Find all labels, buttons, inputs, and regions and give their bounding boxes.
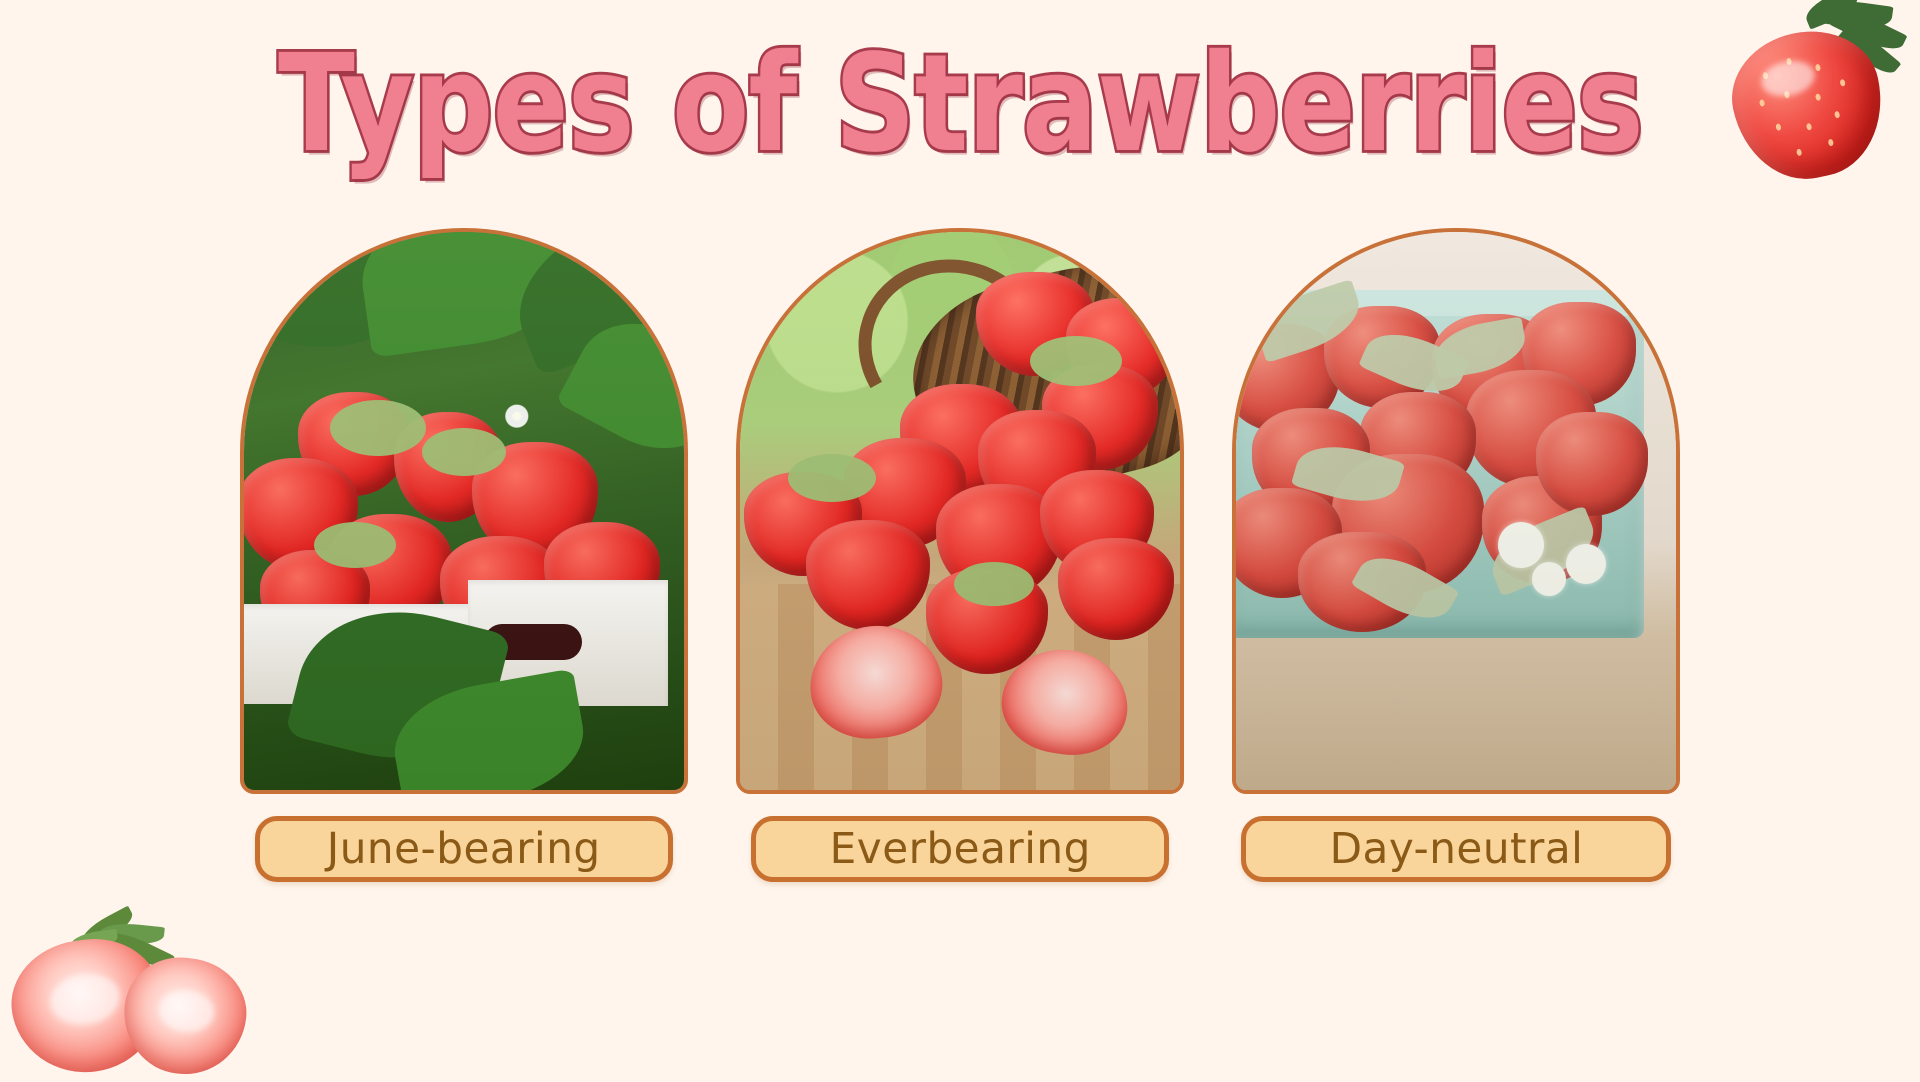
strawberry-type-card[interactable]: June-bearing bbox=[240, 228, 688, 882]
arch-frame-june-bearing bbox=[240, 228, 688, 794]
card-label-text: Day-neutral bbox=[1329, 824, 1583, 874]
card-label-day-neutral[interactable]: Day-neutral bbox=[1241, 816, 1671, 882]
page-title: Types of Strawberries bbox=[278, 34, 1643, 175]
arch-frame-day-neutral bbox=[1232, 228, 1680, 794]
card-row: June-bearing bbox=[0, 228, 1920, 868]
card-label-text: June-bearing bbox=[327, 824, 601, 874]
card-label-text: Everbearing bbox=[829, 824, 1090, 874]
strawberry-type-card[interactable]: Day-neutral bbox=[1232, 228, 1680, 882]
photo-june-bearing bbox=[244, 232, 684, 790]
strawberry-whole-top-right-icon bbox=[1726, 0, 1906, 188]
infographic-canvas: Types of Strawberries bbox=[0, 0, 1920, 1080]
card-label-june-bearing[interactable]: June-bearing bbox=[255, 816, 673, 882]
arch-frame-everbearing bbox=[736, 228, 1184, 794]
page-title-container: Types of Strawberries bbox=[0, 34, 1920, 156]
photo-day-neutral bbox=[1236, 232, 1676, 790]
strawberry-type-card[interactable]: Everbearing bbox=[736, 228, 1184, 882]
photo-everbearing bbox=[740, 232, 1180, 790]
strawberry-halves-bottom-left-icon bbox=[12, 918, 242, 1078]
card-label-everbearing[interactable]: Everbearing bbox=[751, 816, 1169, 882]
